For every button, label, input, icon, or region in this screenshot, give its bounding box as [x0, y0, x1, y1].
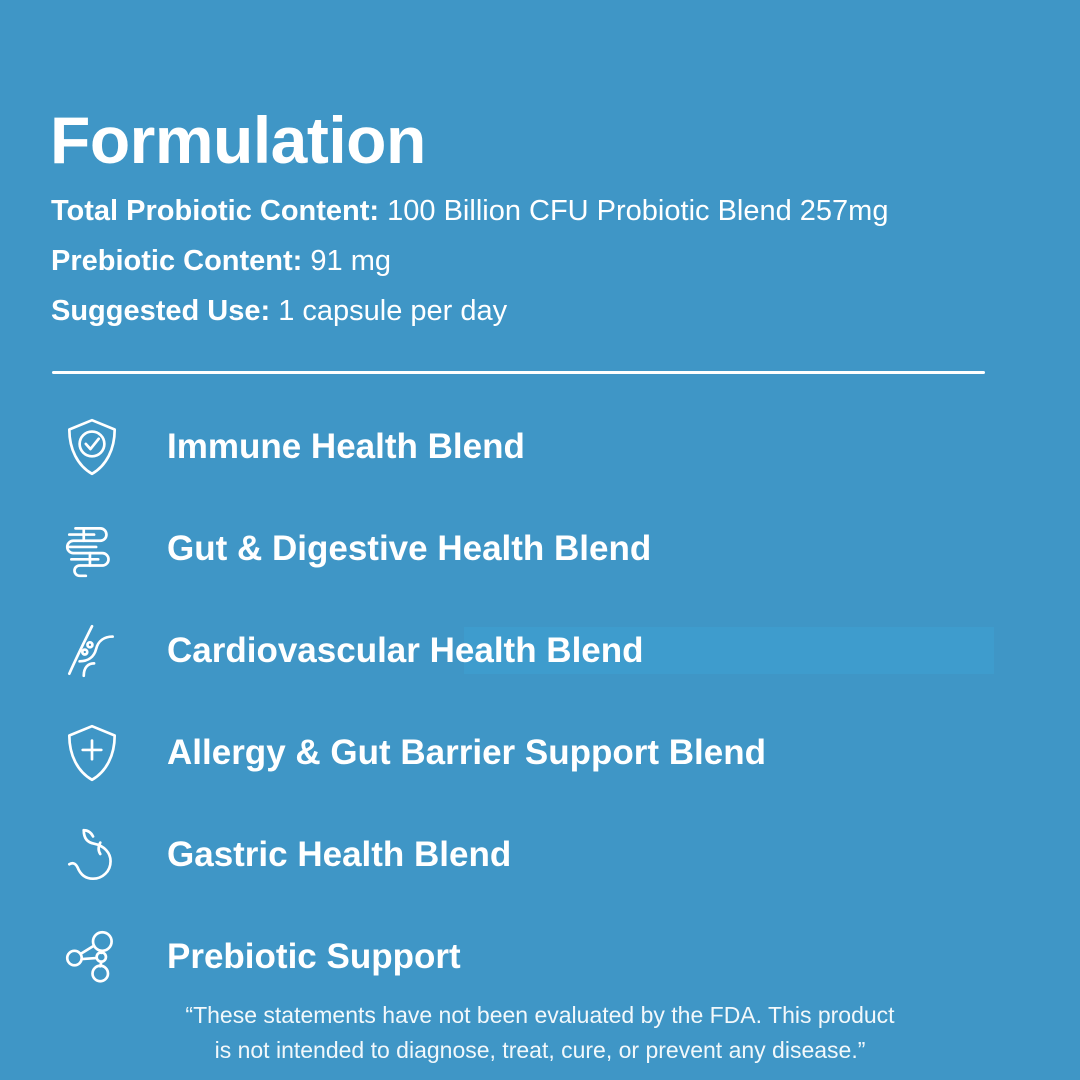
- spec-value: 100 Billion CFU Probiotic Blend 257mg: [379, 195, 888, 227]
- spec-row-prebiotic-content: Prebiotic Content: 91 mg: [51, 236, 1011, 286]
- blend-row-prebiotic-support[interactable]: Prebiotic Support: [0, 906, 1080, 1008]
- blend-list: Immune Health Blend Gut & Digestive Heal…: [0, 396, 1080, 1008]
- heart-vessel-icon: [56, 615, 128, 687]
- intestines-icon: [56, 513, 128, 585]
- spec-value: 91 mg: [302, 245, 391, 277]
- formulation-panel: Formulation Total Probiotic Content: 100…: [0, 0, 1080, 1080]
- spec-row-total-probiotic-content: Total Probiotic Content: 100 Billion CFU…: [51, 186, 1011, 236]
- blend-row-allergy-gut-barrier[interactable]: Allergy & Gut Barrier Support Blend: [0, 702, 1080, 804]
- blend-label: Immune Health Blend: [167, 427, 525, 467]
- spec-list: Total Probiotic Content: 100 Billion CFU…: [51, 186, 1011, 336]
- spec-label: Prebiotic Content:: [51, 245, 302, 277]
- blend-label: Gastric Health Blend: [167, 835, 511, 875]
- blend-row-gut-digestive[interactable]: Gut & Digestive Health Blend: [0, 498, 1080, 600]
- shield-check-icon: [56, 411, 128, 483]
- spec-row-suggested-use: Suggested Use: 1 capsule per day: [51, 286, 1011, 336]
- blend-label: Cardiovascular Health Blend: [167, 631, 644, 671]
- blend-row-gastric[interactable]: Gastric Health Blend: [0, 804, 1080, 906]
- spec-label: Total Probiotic Content:: [51, 195, 379, 227]
- disclaimer-line-2: is not intended to diagnose, treat, cure…: [0, 1033, 1080, 1068]
- fda-disclaimer: “These statements have not been evaluate…: [0, 998, 1080, 1068]
- blend-label: Gut & Digestive Health Blend: [167, 529, 651, 569]
- page-title: Formulation: [50, 106, 426, 175]
- blend-row-immune[interactable]: Immune Health Blend: [0, 396, 1080, 498]
- blend-row-cardiovascular[interactable]: Cardiovascular Health Blend: [0, 600, 1080, 702]
- molecule-icon: [56, 921, 128, 993]
- shield-plus-icon: [56, 717, 128, 789]
- spec-label: Suggested Use:: [51, 295, 270, 327]
- stomach-icon: [56, 819, 128, 891]
- spec-value: 1 capsule per day: [270, 295, 507, 327]
- blend-label: Prebiotic Support: [167, 937, 461, 977]
- blend-label: Allergy & Gut Barrier Support Blend: [167, 733, 766, 773]
- section-divider: [52, 371, 985, 374]
- disclaimer-line-1: “These statements have not been evaluate…: [0, 998, 1080, 1033]
